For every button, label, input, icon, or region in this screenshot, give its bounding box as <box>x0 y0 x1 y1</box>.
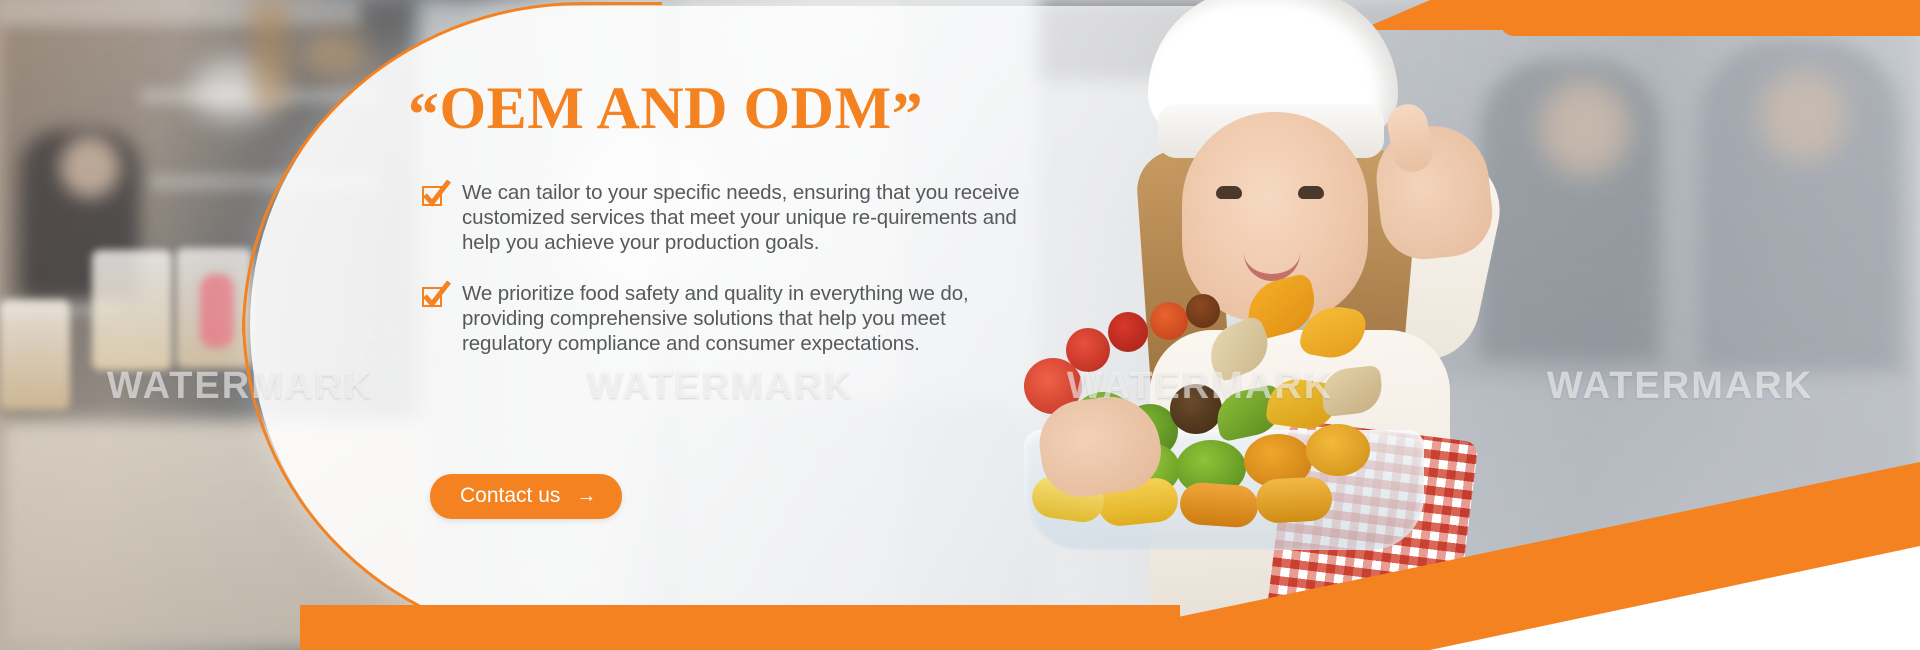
list-item-text: We can tailor to your specific needs, en… <box>462 180 1022 255</box>
list-item-text: We prioritize food safety and quality in… <box>462 281 1022 356</box>
headline-text: OEM AND ODM <box>440 75 892 141</box>
list-item: We prioritize food safety and quality in… <box>422 281 1022 356</box>
eye-right <box>1298 186 1324 199</box>
quote-open: “ <box>408 81 440 149</box>
banner-content: “OEM AND ODM” We can tailor to your spec… <box>404 0 1044 650</box>
promo-banner: BAKED RICE CRACKER <box>0 0 1920 650</box>
list-item: We can tailor to your specific needs, en… <box>422 180 1022 255</box>
checkbox-checked-icon <box>422 186 444 208</box>
quote-close: ” <box>892 81 924 149</box>
bullet-list: We can tailor to your specific needs, en… <box>422 180 1022 382</box>
headline: “OEM AND ODM” <box>408 78 923 140</box>
contact-us-button[interactable]: Contact us → <box>430 474 622 519</box>
contact-us-label: Contact us <box>460 484 560 508</box>
checkbox-checked-icon <box>422 287 444 309</box>
eye-left <box>1216 186 1242 199</box>
girl-chef-illustration <box>1030 0 1590 650</box>
arrow-right-icon: → <box>576 486 596 506</box>
hands-holding-platter <box>1040 398 1190 518</box>
